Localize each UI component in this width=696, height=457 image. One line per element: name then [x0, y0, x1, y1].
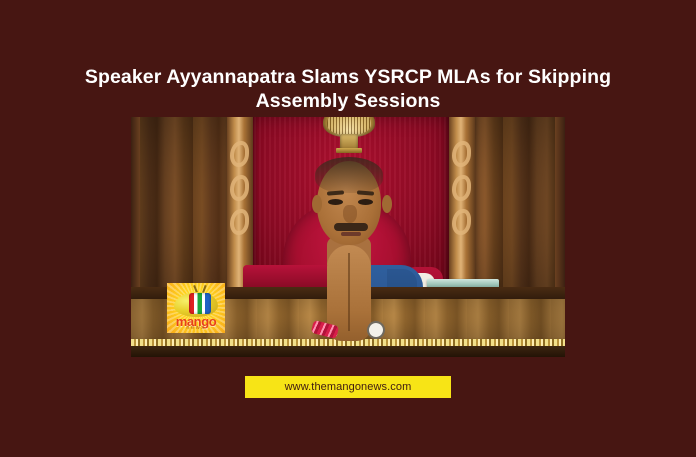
tv-colorbars-icon	[189, 293, 211, 314]
eye-left	[328, 199, 343, 205]
page-title: Speaker Ayyannapatra Slams YSRCP MLAs fo…	[58, 65, 638, 113]
news-card-page: { "card": { "background_color": "#471612…	[0, 0, 696, 457]
article-photo: mango news	[131, 117, 565, 357]
website-url-bar[interactable]: www.themangonews.com	[245, 376, 451, 398]
desk-base-shadow	[131, 346, 565, 357]
hair	[315, 157, 383, 193]
mango-news-logo: mango news	[167, 283, 225, 333]
ear-left	[312, 195, 322, 213]
mustache	[334, 223, 368, 231]
website-url-text: www.themangonews.com	[285, 381, 412, 393]
eye-right	[358, 199, 373, 205]
nose	[343, 205, 357, 223]
mouth	[341, 232, 361, 236]
logo-sub-text: news	[167, 325, 225, 331]
ear-right	[382, 195, 392, 213]
